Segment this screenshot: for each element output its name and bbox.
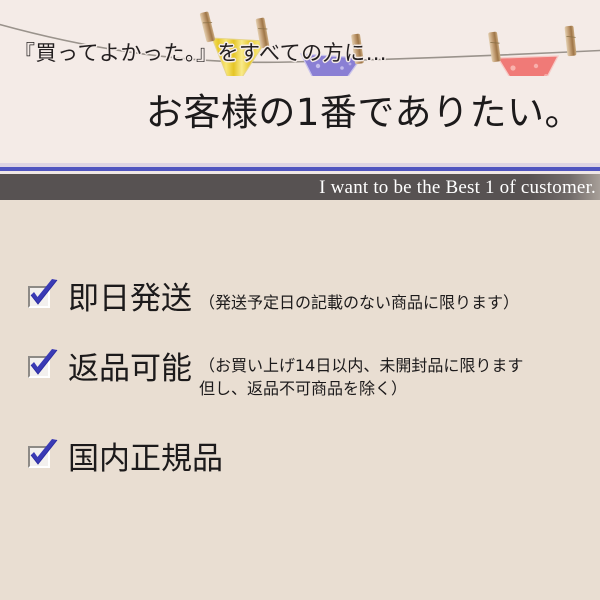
feature-note: （お買い上げ14日以内、未開封品に限ります 但し、返品不可商品を除く）: [199, 354, 523, 400]
checkmark-icon: [26, 349, 60, 381]
clothespin-5: [564, 26, 576, 57]
promotional-banner: 『買ってよかった。』をすべての方に… お客様の1番でありたい。 I want t…: [0, 0, 600, 600]
feature-item-returnable: 返品可能 （お買い上げ14日以内、未開封品に限ります 但し、返品不可商品を除く）: [28, 350, 523, 400]
hero-tagline: 『買ってよかった。』をすべての方に…: [14, 43, 387, 64]
checkmark-icon: [26, 439, 60, 471]
feature-title: 返品可能: [68, 350, 192, 388]
english-slogan-text: I want to be the Best 1 of customer.: [319, 177, 596, 199]
hero-headline: お客様の1番でありたい。: [146, 94, 582, 131]
feature-list: 即日発送 （発送予定日の記載のない商品に限ります） 返品可能 （お買い上げ14日…: [0, 200, 600, 600]
checkbox-checked-icon: [28, 286, 54, 312]
feature-note: （発送予定日の記載のない商品に限ります）: [199, 291, 519, 314]
clothespin-1: [199, 11, 215, 42]
feature-title: 国内正規品: [68, 440, 223, 478]
checkbox-checked-icon: [28, 356, 54, 382]
flag-pink: [498, 56, 558, 76]
feature-item-domestic-genuine: 国内正規品: [28, 440, 230, 478]
clothespin-4: [488, 31, 501, 62]
feature-item-same-day-shipping: 即日発送 （発送予定日の記載のない商品に限ります）: [28, 280, 519, 318]
checkbox-checked-icon: [28, 446, 54, 472]
hero-section: 『買ってよかった。』をすべての方に… お客様の1番でありたい。: [0, 0, 600, 163]
checkmark-icon: [26, 279, 60, 311]
feature-title: 即日発送: [68, 280, 192, 318]
